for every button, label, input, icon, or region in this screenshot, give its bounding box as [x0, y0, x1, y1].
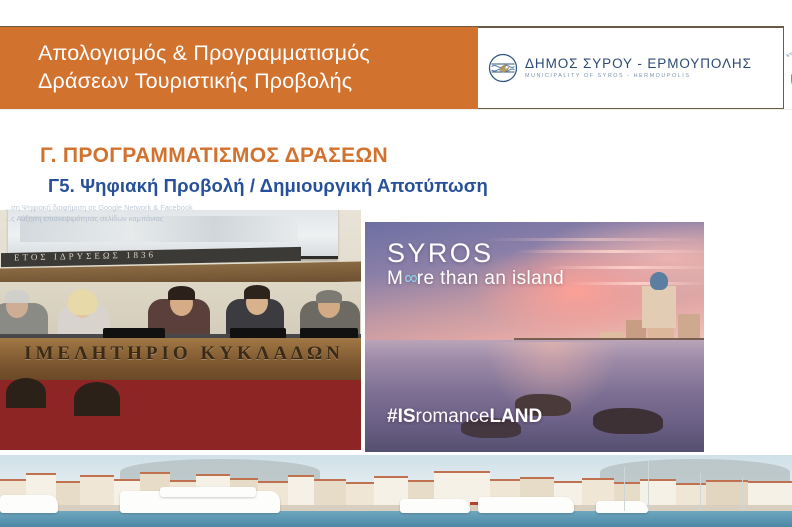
cloud-streak: [545, 266, 704, 269]
harbour-photo: [0, 455, 792, 527]
syros-brandname: SYROS: [387, 240, 564, 267]
yacht: [596, 501, 648, 513]
municipality-name-gr: ΔΗΜΟΣ ΣΥΡΟΥ - ΕΡΜΟΥΠΟΛΗΣ: [525, 57, 752, 71]
church-building: [642, 286, 676, 328]
tagline-prefix: M: [387, 268, 403, 290]
conference-photo: ΕΤΟΣ ΙΔΡΥΣΕΩΣ 1836 ΙΜΕΛΗΤΗΡΙΟ ΚΥΚΛΑΔΩΝ: [0, 210, 361, 450]
hashtag-suffix: LAND: [489, 406, 542, 427]
header-title: Απολογισμός & Προγραμματισμός Δράσεων Το…: [0, 40, 370, 95]
tagline-suffix: re than an island: [417, 268, 564, 290]
subsection-heading: Γ5. Ψηφιακή Προβολή / Δημιουργική Αποτύπ…: [48, 175, 488, 197]
yacht-superstructure: [160, 487, 256, 497]
municipality-name-en: MUNICIPALITY OF SYROS - HERMOUPOLIS: [525, 74, 752, 79]
yacht: [400, 499, 470, 513]
podium-inscription: ΙΜΕΛΗΤΗΡΙΟ ΚΥΚΛΑΔΩΝ: [0, 343, 361, 365]
syros-campaign-photo: SYROS M∞re than an island #ISromanceLAND: [365, 222, 704, 452]
harbour-water: [0, 511, 792, 527]
speaker-hair: [316, 290, 342, 303]
yacht: [478, 497, 574, 513]
church-dome: [650, 272, 668, 290]
syros-brand-lockup: SYROS M∞re than an island: [387, 240, 564, 290]
slide-header: Απολογισμός & Προγραμματισμός Δράσεων Το…: [0, 27, 792, 109]
municipality-logo: ΔΗΜΟΣ ΣΥΡΟΥ - ΕΡΜΟΥΠΟΛΗΣ MUNICIPALITY OF…: [488, 53, 752, 83]
header-logo-box: ΔΗΜΟΣ ΣΥΡΟΥ - ΕΡΜΟΥΠΟΛΗΣ MUNICIPALITY OF…: [478, 27, 784, 109]
syros-tagline: M∞re than an island: [387, 268, 564, 290]
section-heading: Γ. ΠΡΟΓΡΑΜΜΑΤΙΣΜΟΣ ΔΡΑΣΕΩΝ: [40, 144, 388, 168]
audience-seating-band: [0, 380, 361, 450]
speaker-hair: [5, 290, 29, 303]
audience-head: [6, 378, 46, 408]
hashtag-prefix: #IS: [387, 406, 416, 427]
yacht: [0, 495, 58, 513]
audience-head: [74, 382, 120, 416]
foreground-rock: [593, 408, 663, 434]
hashtag-middle: romance: [416, 406, 490, 427]
speaker-hair: [244, 285, 270, 299]
slide-canvas: Απολογισμός & Προγραμματισμός Δράσεων Το…: [0, 0, 792, 527]
header-underline: [0, 109, 792, 110]
header-title-box: Απολογισμός & Προγραμματισμός Δράσεων Το…: [0, 27, 478, 109]
svg-text:SYROS: SYROS: [785, 46, 792, 58]
mountains-and-wave-badge-icon: SYROS AEGEAN SEA: [780, 45, 792, 91]
syros-hashtag: #ISromanceLAND: [387, 406, 542, 428]
speaker-hair: [68, 289, 97, 315]
dove-and-waves-seal-icon: [488, 53, 518, 83]
waterfront-buildings: [0, 469, 792, 507]
speaker-hair: [168, 286, 195, 300]
infinity-glyph-icon: ∞: [404, 268, 416, 290]
municipality-wordmark: ΔΗΜΟΣ ΣΥΡΟΥ - ΕΡΜΟΥΠΟΛΗΣ MUNICIPALITY OF…: [525, 57, 752, 79]
